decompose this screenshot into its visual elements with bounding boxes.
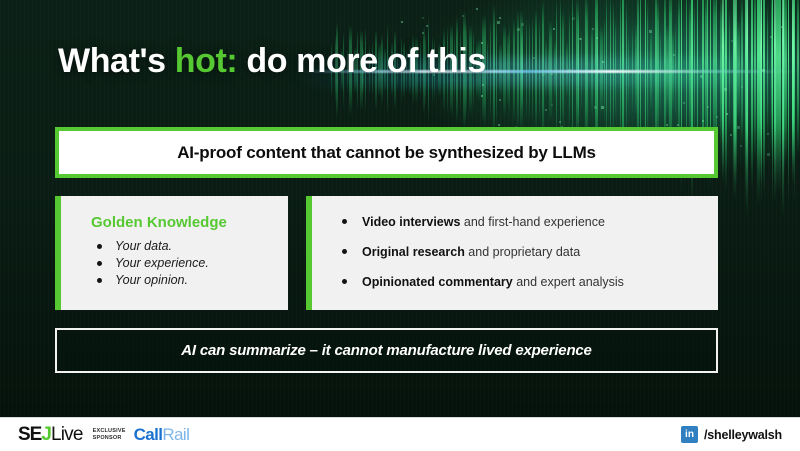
list-item: Original research and proprietary data — [340, 244, 718, 260]
logo-se: SE — [18, 424, 41, 445]
list-item-rest: and expert analysis — [513, 275, 624, 289]
sej-live-logo: SEJLive — [18, 425, 83, 444]
list-item: Your opinion. — [95, 272, 288, 289]
callrail-rail: Rail — [162, 425, 189, 444]
logo-j: J — [41, 424, 51, 445]
callrail-call: Call — [134, 425, 163, 444]
list-item-lead: Video interviews — [362, 215, 460, 229]
footer-bar: SEJLive EXCLUSIVE SPONSOR CallRail in /s… — [0, 417, 800, 451]
sponsor-kicker-text: EXCLUSIVE SPONSOR — [93, 428, 126, 441]
title-suffix: do more of this — [237, 42, 486, 80]
list-item-rest: and proprietary data — [465, 245, 580, 259]
content-types-list: Video interviews and first-hand experien… — [340, 214, 718, 290]
card-content-types: Video interviews and first-hand experien… — [306, 196, 718, 310]
content-cards: Golden Knowledge Your data. Your experie… — [55, 196, 718, 310]
callrail-logo: CallRail — [134, 426, 190, 443]
list-item: Your experience. — [95, 255, 288, 272]
footer-branding: SEJLive EXCLUSIVE SPONSOR CallRail — [18, 425, 189, 444]
social-handle[interactable]: /shelleywalsh — [704, 428, 782, 442]
list-item: Opinionated commentary and expert analys… — [340, 274, 718, 290]
golden-knowledge-list: Your data. Your experience. Your opinion… — [95, 238, 288, 289]
title-highlight: hot: — [175, 42, 238, 80]
list-item: Video interviews and first-hand experien… — [340, 214, 718, 230]
slide-background: What's hot: do more of this AI-proof con… — [0, 0, 800, 417]
title-prefix: What's — [58, 42, 175, 80]
closing-statement-text: AI can summarize – it cannot manufacture… — [181, 342, 591, 359]
page-title: What's hot: do more of this — [58, 42, 486, 81]
list-item: Your data. — [95, 238, 288, 255]
list-item-lead: Original research — [362, 245, 465, 259]
list-item-lead: Opinionated commentary — [362, 275, 513, 289]
linkedin-icon[interactable]: in — [681, 426, 698, 443]
slide: What's hot: do more of this AI-proof con… — [0, 0, 800, 451]
list-item-rest: and first-hand experience — [460, 215, 605, 229]
hero-banner: AI-proof content that cannot be synthesi… — [55, 127, 718, 178]
hero-banner-text: AI-proof content that cannot be synthesi… — [177, 143, 596, 163]
footer-social[interactable]: in /shelleywalsh — [681, 426, 782, 443]
closing-statement-box: AI can summarize – it cannot manufacture… — [55, 328, 718, 373]
card-golden-knowledge: Golden Knowledge Your data. Your experie… — [55, 196, 288, 310]
logo-live: Live — [51, 424, 83, 445]
card-heading: Golden Knowledge — [91, 214, 288, 231]
